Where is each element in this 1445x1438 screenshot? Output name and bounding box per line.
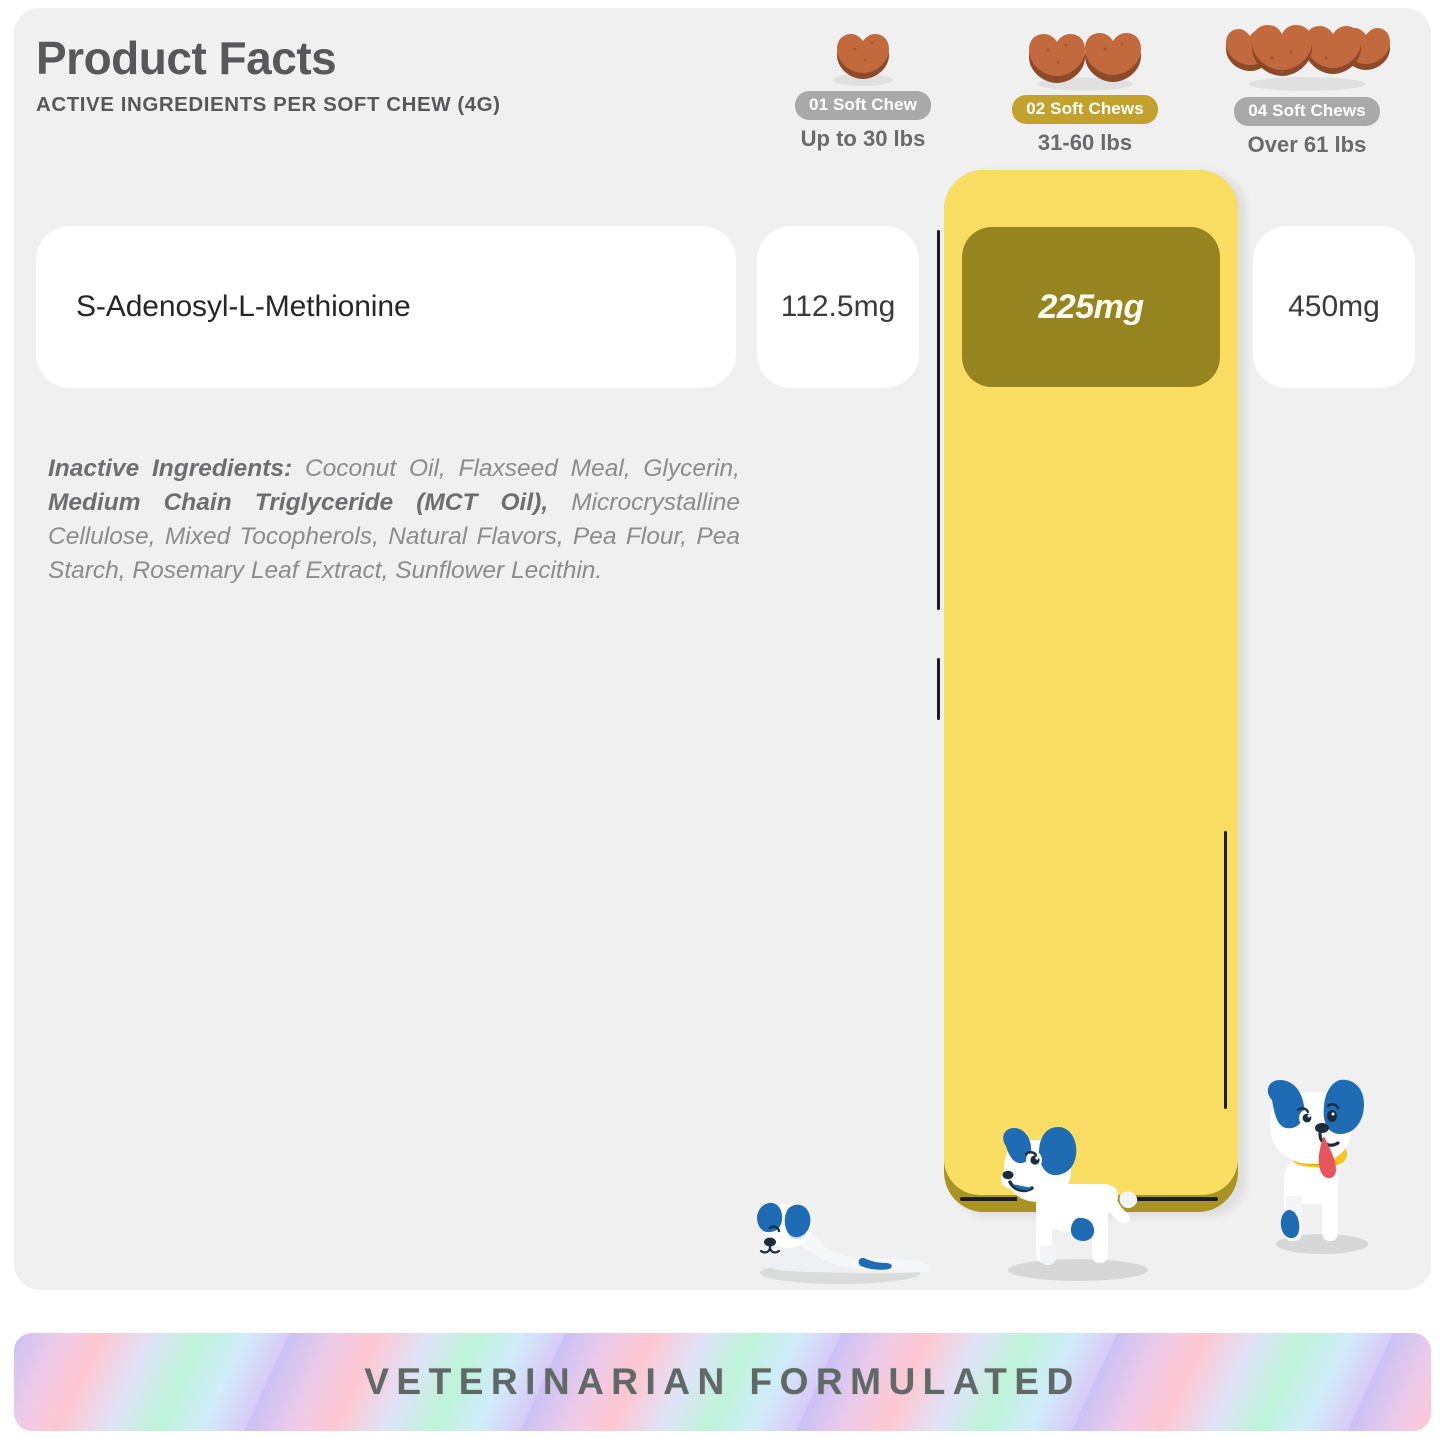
ingredient-value-2: 225mg <box>962 227 1220 387</box>
four-soft-chews-icon <box>1216 16 1398 94</box>
heading-block: Product Facts ACTIVE INGREDIENTS PER SOF… <box>36 34 501 117</box>
dog-lying-down <box>742 1180 942 1290</box>
inactive-ingredients-part1: Coconut Oil, Flaxseed Meal, Glycerin, <box>292 455 740 482</box>
column-edge-left-upper <box>937 230 940 610</box>
two-soft-chews-icon <box>1010 16 1160 92</box>
one-soft-chew-icon <box>815 16 911 88</box>
dose-column-3: 04 Soft Chews Over 61 lbs <box>1196 16 1418 151</box>
dose-columns-header: 01 Soft Chew Up to 30 lbs <box>752 16 1418 151</box>
dog-walking <box>990 1118 1166 1288</box>
page-title: Product Facts <box>36 34 501 82</box>
dose-badge-3: 04 Soft Chews <box>1234 97 1380 126</box>
inactive-ingredients-label: Inactive Ingredients: <box>48 455 292 482</box>
inactive-ingredients-paragraph: Inactive Ingredients: Coconut Oil, Flaxs… <box>48 452 740 588</box>
dose-column-2: 02 Soft Chews 31-60 lbs <box>974 16 1196 151</box>
ingredient-name: S-Adenosyl-L-Methionine <box>36 290 411 324</box>
ingredient-value-3: 450mg <box>1253 226 1415 388</box>
dose-weight-3: Over 61 lbs <box>1248 132 1367 158</box>
banner-text: VETERINARIAN FORMULATED <box>364 1361 1081 1403</box>
ingredient-value-1: 112.5mg <box>757 226 919 388</box>
ingredient-name-card: S-Adenosyl-L-Methionine <box>36 226 736 388</box>
column-edge-right <box>1224 831 1227 1109</box>
dose-badge-2: 02 Soft Chews <box>1012 95 1158 124</box>
veterinarian-formulated-banner: VETERINARIAN FORMULATED <box>14 1333 1431 1431</box>
dog-sitting-collar <box>1258 1078 1386 1263</box>
product-facts-graphic: Product Facts ACTIVE INGREDIENTS PER SOF… <box>0 0 1445 1438</box>
column-edge-left-lower <box>937 658 940 720</box>
page-subtitle: ACTIVE INGREDIENTS PER SOFT CHEW (4G) <box>36 93 501 117</box>
dose-weight-1: Up to 30 lbs <box>801 126 926 152</box>
dose-badge-1: 01 Soft Chew <box>795 91 931 120</box>
inactive-ingredients-mct: Medium Chain Triglyceride (MCT Oil), <box>48 489 548 516</box>
dose-column-1: 01 Soft Chew Up to 30 lbs <box>752 16 974 151</box>
dose-weight-2: 31-60 lbs <box>1038 130 1132 156</box>
